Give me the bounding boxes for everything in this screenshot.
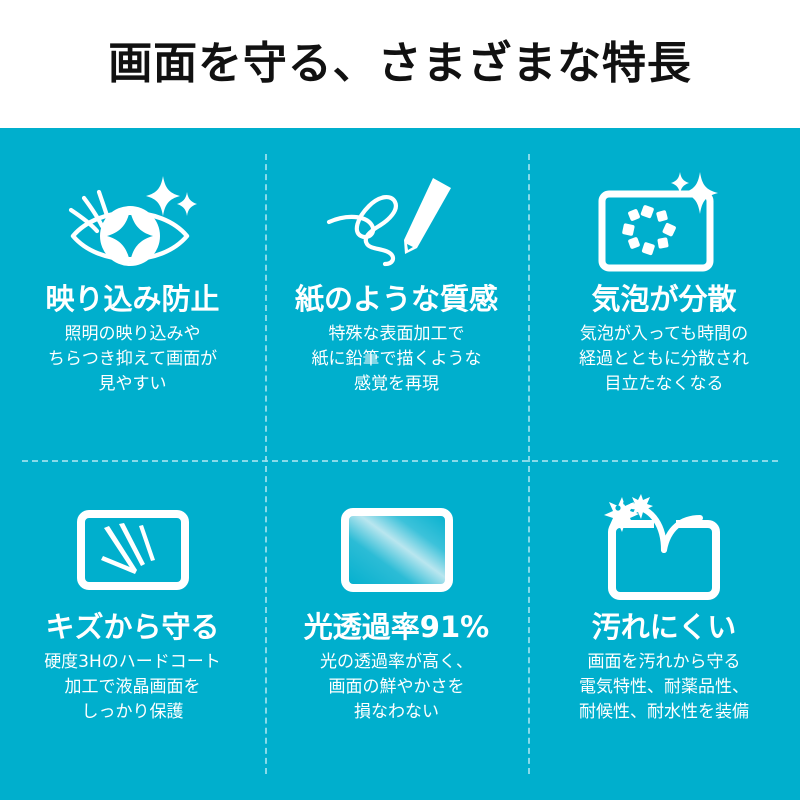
feature-desc-line: 光の透過率が高く、 xyxy=(320,650,473,675)
screen-scratches-icon xyxy=(43,490,223,610)
feature-cell-stain-resistant[interactable]: 汚れにくい 画面を汚れから守る 電気特性、耐薬品性、 耐候性、耐水性を装備 xyxy=(528,460,800,800)
feature-desc-line: 特殊な表面加工で xyxy=(312,322,482,347)
feature-title: 紙のような質感 xyxy=(295,284,498,316)
feature-desc-line: 紙に鉛筆で描くような xyxy=(312,347,482,372)
feature-desc-line: 画面を汚れから守る xyxy=(579,650,749,675)
feature-desc-line: 画面の鮮やかさを xyxy=(320,675,473,700)
page-header: 画面を守る、さまざまな特長 xyxy=(0,0,800,128)
feature-desc-line: ちらつき抑えて画面が xyxy=(48,347,217,372)
features-grid: 映り込み防止 照明の映り込みや ちらつき抑えて画面が 見やすい xyxy=(0,128,800,800)
feature-desc-line: 損なわない xyxy=(320,700,473,725)
feature-cell-light-transmission[interactable]: 光透過率91% 光の透過率が高く、 画面の鮮やかさを 損なわない xyxy=(265,460,528,800)
feature-description: 気泡が入っても時間の 経過とともに分散され 目立たなくなる xyxy=(579,322,749,397)
feature-desc-line: 加工で液晶画面を xyxy=(44,675,221,700)
feature-cell-paper-texture[interactable]: 紙のような質感 特殊な表面加工で 紙に鉛筆で描くような 感覚を再現 xyxy=(265,128,528,460)
feature-cell-bubble-dispersion[interactable]: 気泡が分散 気泡が入っても時間の 経過とともに分散され 目立たなくなる xyxy=(528,128,800,460)
screen-dirt-repel-icon xyxy=(574,490,754,610)
feature-desc-line: 感覚を再現 xyxy=(312,372,482,397)
feature-desc-line: 耐候性、耐水性を装備 xyxy=(579,700,749,725)
feature-desc-line: 目立たなくなる xyxy=(579,372,749,397)
feature-description: 光の透過率が高く、 画面の鮮やかさを 損なわない xyxy=(320,650,473,725)
screen-shine-icon xyxy=(307,490,487,610)
feature-title: 映り込み防止 xyxy=(45,284,219,316)
feature-desc-line: 経過とともに分散され xyxy=(579,347,749,372)
feature-title: 気泡が分散 xyxy=(591,284,736,316)
feature-desc-line: 電気特性、耐薬品性、 xyxy=(579,675,749,700)
feature-infographic-page: 画面を守る、さまざまな特長 xyxy=(0,0,800,800)
feature-desc-line: 気泡が入っても時間の xyxy=(579,322,749,347)
feature-description: 特殊な表面加工で 紙に鉛筆で描くような 感覚を再現 xyxy=(312,322,482,397)
feature-cell-scratch-protection[interactable]: キズから守る 硬度3Hのハードコート 加工で液晶画面を しっかり保護 xyxy=(0,460,265,800)
feature-desc-line: 見やすい xyxy=(48,372,217,397)
feature-title: 光透過率91% xyxy=(304,612,489,644)
screen-bubbles-sparkle-icon xyxy=(574,162,754,282)
eye-sparkle-icon xyxy=(43,162,223,282)
feature-description: 照明の映り込みや ちらつき抑えて画面が 見やすい xyxy=(48,322,217,397)
feature-title: キズから守る xyxy=(45,612,219,644)
grid-divider-vertical-left xyxy=(265,154,267,774)
feature-desc-line: しっかり保護 xyxy=(44,700,221,725)
feature-desc-line: 硬度3Hのハードコート xyxy=(44,650,221,675)
feature-description: 硬度3Hのハードコート 加工で液晶画面を しっかり保護 xyxy=(44,650,221,725)
pen-scribble-icon xyxy=(307,162,487,282)
grid-divider-vertical-right xyxy=(528,154,530,774)
page-title: 画面を守る、さまざまな特長 xyxy=(108,42,691,86)
feature-title: 汚れにくい xyxy=(592,612,736,644)
features-panel: 映り込み防止 照明の映り込みや ちらつき抑えて画面が 見やすい xyxy=(0,128,800,800)
grid-divider-horizontal xyxy=(22,460,778,462)
feature-desc-line: 照明の映り込みや xyxy=(48,322,217,347)
feature-description: 画面を汚れから守る 電気特性、耐薬品性、 耐候性、耐水性を装備 xyxy=(579,650,749,725)
feature-cell-anti-glare[interactable]: 映り込み防止 照明の映り込みや ちらつき抑えて画面が 見やすい xyxy=(0,128,265,460)
